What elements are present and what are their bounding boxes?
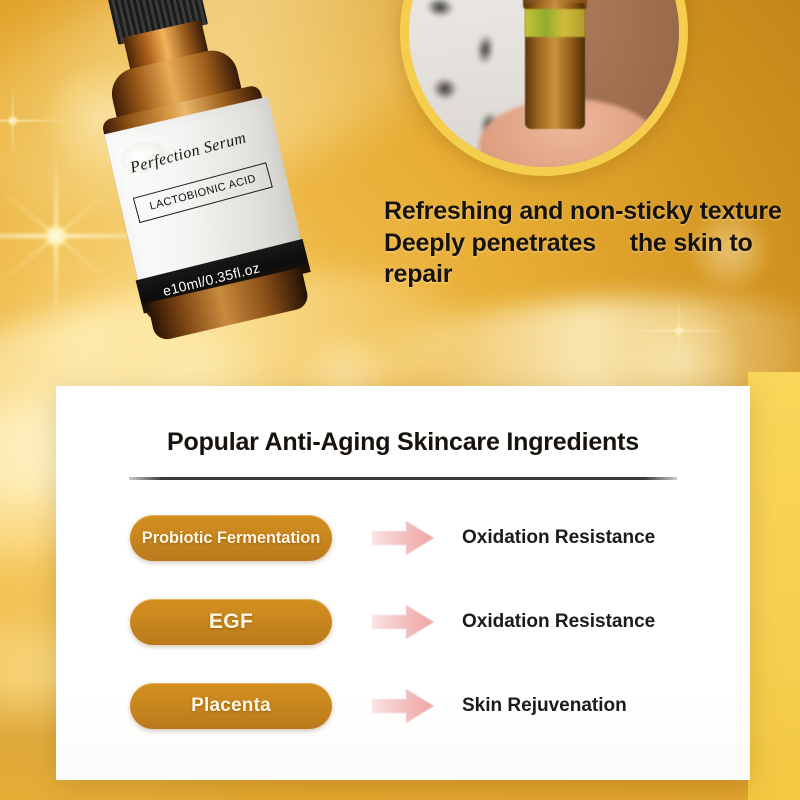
ingredient-pill-label: Placenta	[191, 695, 271, 717]
yellow-side-band	[748, 372, 800, 800]
circular-inset-photo	[400, 0, 688, 176]
benefit-label: Oxidation Resistance	[462, 611, 655, 633]
ingredient-rows: Probiotic Fermentation	[56, 510, 750, 734]
ingredient-row: Placenta Skin Rejuvenat	[56, 678, 750, 734]
ingredients-card: Popular Anti-Aging Skincare Ingredients …	[56, 386, 750, 780]
ingredient-pill[interactable]: Probiotic Fermentation	[130, 515, 332, 561]
ingredient-callout-text: LACTOBIONIC ACID	[148, 173, 257, 213]
marketing-banner: Perfection Serum LACTOBIONIC ACID e10ml/…	[0, 0, 800, 800]
inset-photo-content	[409, 0, 679, 167]
ingredient-pill[interactable]: Placenta	[130, 683, 332, 729]
benefit-label: Oxidation Resistance	[462, 527, 655, 549]
ingredient-pill-label: Probiotic Fermentation	[142, 529, 320, 548]
right-arrow-icon	[366, 599, 440, 645]
ingredient-pill-label: EGF	[209, 610, 253, 634]
ingredient-row: Probiotic Fermentation	[56, 510, 750, 566]
card-divider	[129, 477, 677, 480]
ingredient-pill[interactable]: EGF	[130, 599, 332, 645]
ingredient-row: EGF Oxidation Resistanc	[56, 594, 750, 650]
right-arrow-icon	[366, 683, 440, 729]
headline-line-2: Deeply penetrates the skin to	[384, 228, 788, 260]
benefit-label: Skin Rejuvenation	[462, 695, 627, 717]
headline-line-3: repair	[384, 259, 788, 291]
headline-text: Refreshing and non-sticky texture Deeply…	[384, 196, 788, 291]
photo-serum-bottle	[515, 0, 593, 131]
headline-line-1: Refreshing and non-sticky texture	[384, 196, 788, 228]
right-arrow-icon	[366, 515, 440, 561]
card-title: Popular Anti-Aging Skincare Ingredients	[56, 428, 750, 457]
photo-bottle-label-stripe	[525, 9, 585, 37]
